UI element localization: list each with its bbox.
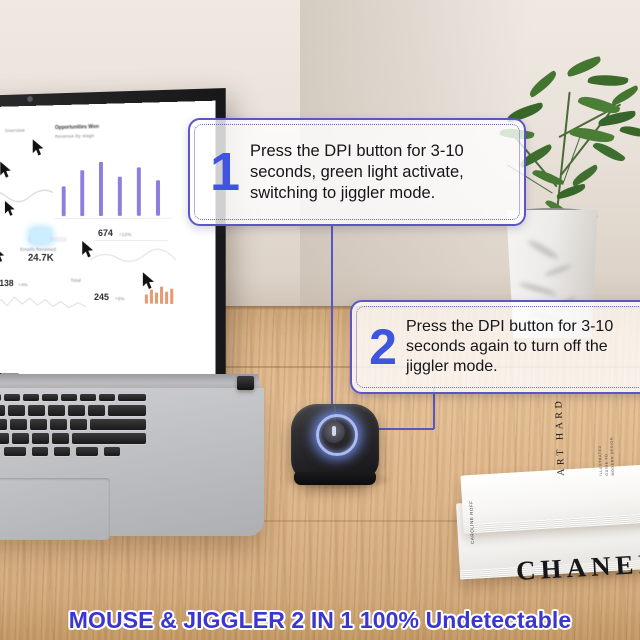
callout-step-1: 1 Press the DPI button for 3-10 seconds,… [188,118,526,226]
mouse-base [294,472,376,485]
dashboard-small-label: Total [71,278,81,283]
dashboard-small-label: Overview [5,128,25,133]
dpi-button-indicator-icon [332,426,336,436]
product-photo-scene: Overview Opportunities Won Revenue by st… [0,0,640,640]
callout-1-text: Press the DPI button for 3-10 seconds, g… [250,141,510,204]
emails-value: 24.7K [28,253,54,264]
promo-banner-text: MOUSE & JIGGLER 2 IN 1 100% Undetectable [69,607,571,634]
metric-674: 674 [98,228,113,238]
analytics-dashboard: Overview Opportunities Won Revenue by st… [0,101,215,380]
webcam-icon [28,97,32,101]
sparkline-jagged [0,289,86,312]
sparkline-wave [90,244,176,268]
book-top-subtitle: ILLUSTRATED GUIDE TO MODERN DESIGN [597,433,616,476]
metric-245: 245 [94,292,109,302]
callout-2-number: 2 [360,322,406,372]
laptop-keyboard [0,394,198,468]
callout-step-2: 2 Press the DPI button for 3-10 seconds … [350,300,640,394]
callout-1-number: 1 [200,145,250,199]
callout-2-text: Press the DPI button for 3-10 seconds ag… [406,317,640,377]
email-widget-icon [31,229,50,243]
laptop-screen: Overview Opportunities Won Revenue by st… [0,101,215,380]
promo-banner: MOUSE & JIGGLER 2 IN 1 100% Undetectable [0,600,640,640]
metric-138: 138 [0,278,14,288]
metric-delta: +9% [115,296,125,301]
laptop-trackpad[interactable] [0,478,110,540]
metric-delta: +12% [119,232,132,237]
chart-subtitle: Revenue by stage [55,133,94,139]
emails-label: Emails Received [20,247,56,252]
chart-title: Opportunities Won [55,124,99,131]
metric-delta: +4% [18,282,28,287]
callout-1-connector [331,224,333,420]
usb-dongle [237,376,254,390]
callout-2-connector-vertical [433,388,435,429]
